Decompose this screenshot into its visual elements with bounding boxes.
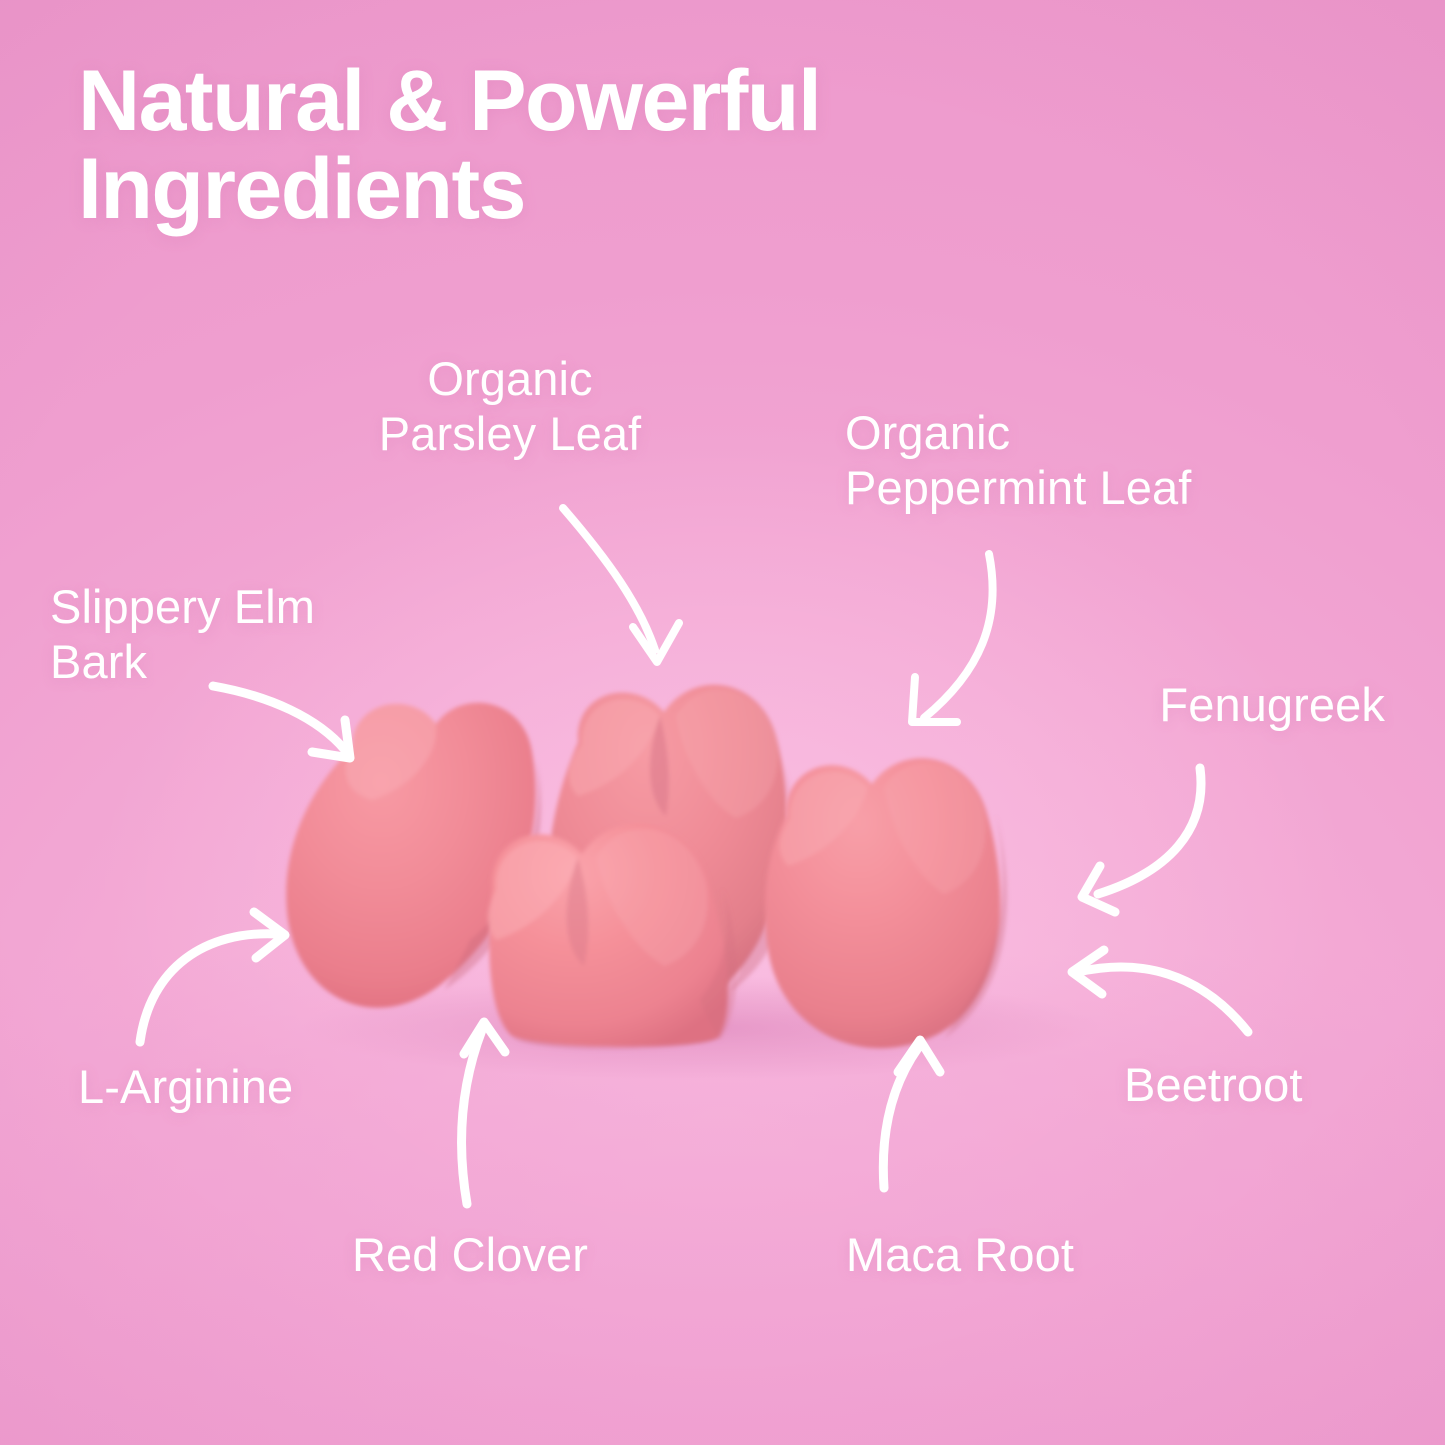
ingredients-infographic: Natural & Powerful Ingredients Organic P… [0, 0, 1445, 1445]
ingredient-label-slippery-elm-bark: Slippery Elm Bark [50, 580, 470, 689]
arrow-beetroot [1072, 950, 1248, 1032]
arrow-organic-parsley-leaf [563, 508, 679, 662]
ingredient-label-maca-root: Maca Root [800, 1228, 1120, 1283]
ingredient-label-beetroot: Beetroot [1124, 1058, 1444, 1113]
arrow-maca-root [883, 1040, 940, 1188]
arrow-slippery-elm-bark [213, 686, 350, 758]
ingredient-label-fenugreek: Fenugreek [985, 678, 1385, 733]
ingredient-label-l-arginine: L-Arginine [78, 1060, 478, 1115]
ingredient-label-organic-peppermint-leaf: Organic Peppermint Leaf [845, 406, 1365, 515]
arrow-organic-peppermint-leaf [912, 554, 993, 722]
ingredient-label-organic-parsley-leaf: Organic Parsley Leaf [305, 352, 715, 461]
ingredient-label-red-clover: Red Clover [310, 1228, 630, 1283]
arrow-fenugreek [1082, 768, 1201, 912]
arrow-l-arginine [140, 912, 285, 1042]
page-title: Natural & Powerful Ingredients [78, 58, 1078, 233]
